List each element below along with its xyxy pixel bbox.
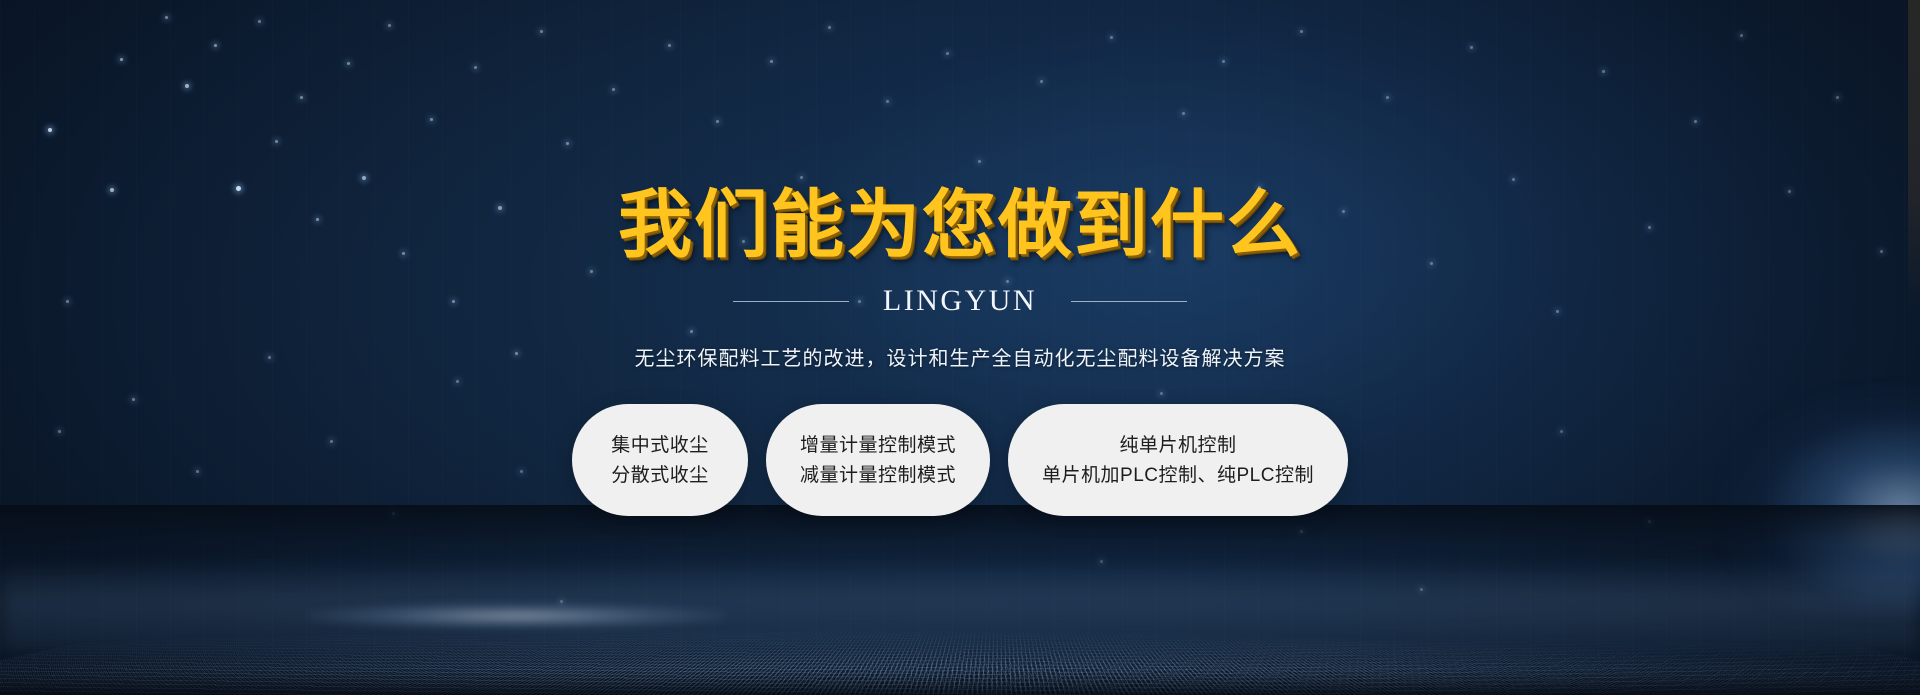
feature-card-metering-mode[interactable]: 增量计量控制模式 减量计量控制模式 — [766, 404, 990, 516]
brand-divider-row: LINGYUN — [733, 284, 1187, 318]
page-subtitle: 无尘环保配料工艺的改进，设计和生产全自动化无尘配料设备解决方案 — [635, 342, 1286, 371]
feature-card-line-2: 单片机加PLC控制、纯PLC控制 — [1042, 466, 1314, 485]
feature-card-line-1: 增量计量控制模式 — [800, 436, 956, 455]
feature-card-list: 集中式收尘 分散式收尘 增量计量控制模式 减量计量控制模式 纯单片机控制 单片机… — [572, 404, 1348, 516]
hero-banner: 我们能为您做到什么 LINGYUN 无尘环保配料工艺的改进，设计和生产全自动化无… — [0, 0, 1920, 695]
divider-line-left — [733, 301, 849, 302]
feature-card-line-1: 集中式收尘 — [611, 436, 709, 455]
feature-card-line-2: 分散式收尘 — [611, 466, 709, 485]
brand-name: LINGYUN — [883, 284, 1037, 318]
page-title: 我们能为您做到什么 — [618, 188, 1302, 262]
banner-content: 我们能为您做到什么 LINGYUN 无尘环保配料工艺的改进，设计和生产全自动化无… — [0, 0, 1920, 695]
feature-card-dust-collection[interactable]: 集中式收尘 分散式收尘 — [572, 404, 748, 516]
divider-line-right — [1071, 301, 1187, 302]
feature-card-line-1: 纯单片机控制 — [1119, 436, 1236, 455]
feature-card-control-system[interactable]: 纯单片机控制 单片机加PLC控制、纯PLC控制 — [1008, 404, 1348, 516]
feature-card-line-2: 减量计量控制模式 — [800, 466, 956, 485]
